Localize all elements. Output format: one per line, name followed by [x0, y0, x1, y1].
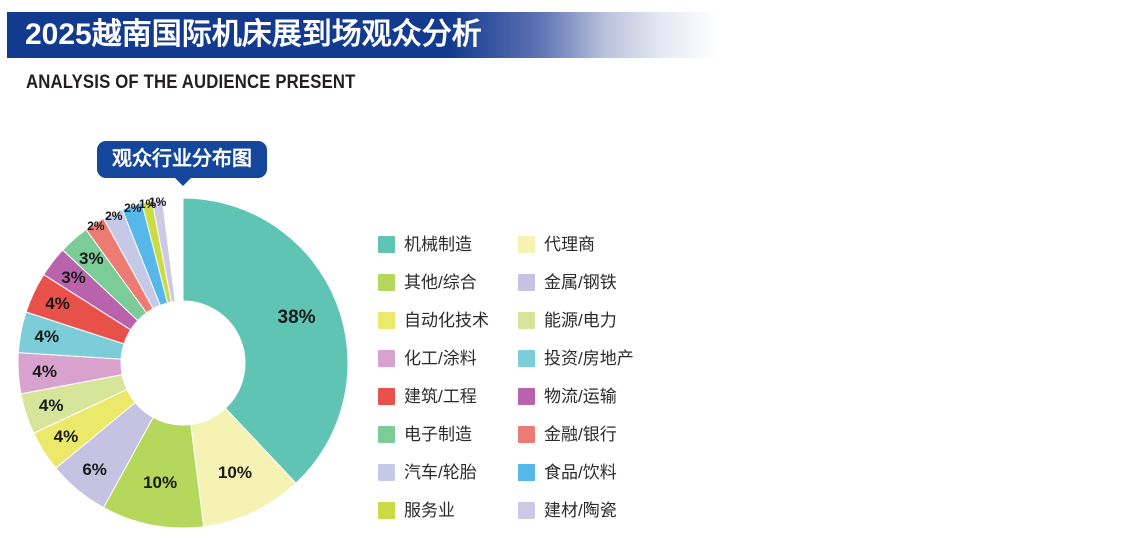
legend-item-label: 金融/银行 [544, 425, 617, 444]
legend-swatch-icon [378, 236, 395, 253]
legend-item[interactable]: 其他/综合 [378, 263, 518, 301]
legend-item[interactable]: 代理商 [518, 225, 658, 263]
legend-swatch-icon [518, 464, 535, 481]
legend-item[interactable]: 能源/电力 [518, 301, 658, 339]
legend-item-label: 代理商 [544, 235, 595, 254]
legend-item-label: 金属/钢铁 [544, 273, 617, 292]
industry-legend: 机械制造代理商其他/综合金属/钢铁自动化技术能源/电力化工/涂料投资/房地产建筑… [378, 225, 658, 529]
legend-swatch-icon [378, 426, 395, 443]
legend-item-label: 化工/涂料 [404, 349, 477, 368]
industry-chart-panel: 观众行业分布图 38%10%10%6%4%4%4%4%4%3%3%2%2%2%1… [0, 0, 660, 560]
legend-item[interactable]: 化工/涂料 [378, 339, 518, 377]
legend-item[interactable]: 电子制造 [378, 415, 518, 453]
legend-item-label: 其他/综合 [404, 273, 477, 292]
legend-swatch-icon [378, 312, 395, 329]
legend-item[interactable]: 自动化技术 [378, 301, 518, 339]
region-chart-panel: 观众地区分布图 52%21%10%4%4%3%3%3% 河内胡志明市太原省北宁省… [660, 0, 1140, 560]
legend-swatch-icon [378, 350, 395, 367]
legend-item[interactable]: 汽车/轮胎 [378, 453, 518, 491]
legend-item-label: 建筑/工程 [404, 387, 477, 406]
legend-item[interactable]: 建材/陶瓷 [518, 491, 658, 529]
legend-swatch-icon [378, 464, 395, 481]
legend-item-label: 能源/电力 [544, 311, 617, 330]
legend-swatch-icon [518, 502, 535, 519]
legend-item[interactable]: 物流/运输 [518, 377, 658, 415]
legend-item-label: 服务业 [404, 501, 455, 520]
legend-swatch-icon [518, 236, 535, 253]
legend-swatch-icon [378, 388, 395, 405]
legend-item[interactable]: 金属/钢铁 [518, 263, 658, 301]
legend-item[interactable]: 投资/房地产 [518, 339, 658, 377]
industry-chart-badge: 观众行业分布图 [97, 141, 267, 178]
legend-item[interactable]: 金融/银行 [518, 415, 658, 453]
legend-swatch-icon [378, 502, 395, 519]
legend-swatch-icon [518, 388, 535, 405]
legend-item-label: 机械制造 [404, 235, 472, 254]
legend-item[interactable]: 机械制造 [378, 225, 518, 263]
industry-donut-chart: 38%10%10%6%4%4%4%4%4%3%3%2%2%2%1%1% [13, 193, 353, 538]
industry-donut-svg [13, 193, 353, 533]
legend-swatch-icon [518, 274, 535, 291]
legend-swatch-icon [518, 312, 535, 329]
legend-item-label: 物流/运输 [544, 387, 617, 406]
legend-item-label: 投资/房地产 [544, 349, 634, 368]
legend-item[interactable]: 建筑/工程 [378, 377, 518, 415]
legend-item-label: 电子制造 [404, 425, 472, 444]
legend-item[interactable]: 食品/饮料 [518, 453, 658, 491]
legend-item-label: 食品/饮料 [544, 463, 617, 482]
legend-swatch-icon [378, 274, 395, 291]
legend-swatch-icon [518, 350, 535, 367]
legend-item-label: 建材/陶瓷 [544, 501, 617, 520]
legend-item-label: 汽车/轮胎 [404, 463, 477, 482]
legend-item[interactable]: 服务业 [378, 491, 518, 529]
legend-item-label: 自动化技术 [404, 311, 489, 330]
legend-swatch-icon [518, 426, 535, 443]
